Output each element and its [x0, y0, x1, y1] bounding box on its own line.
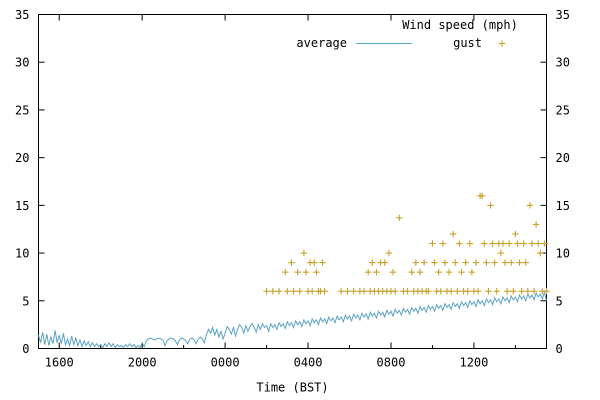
- y-tick-label-right: 10: [556, 247, 570, 261]
- y-tick-label-right: 20: [556, 151, 570, 165]
- x-tick-label: 2000: [128, 356, 157, 370]
- chart-background: [0, 0, 600, 400]
- legend-label-average: average: [296, 36, 347, 50]
- legend-label-gust: gust: [453, 36, 482, 50]
- y-tick-label-left: 25: [15, 103, 29, 117]
- plot-canvas: 05101520253035 05101520253035 1600200000…: [0, 0, 600, 400]
- x-tick-label: 0800: [377, 356, 406, 370]
- y-tick-label-right: 0: [556, 342, 563, 356]
- x-tick-label: 1200: [459, 356, 488, 370]
- wind-speed-chart: 05101520253035 05101520253035 1600200000…: [0, 0, 600, 400]
- y-tick-label-right: 35: [556, 8, 570, 22]
- y-tick-label-left: 0: [22, 342, 29, 356]
- x-tick-label: 0000: [211, 356, 240, 370]
- y-tick-label-left: 30: [15, 56, 29, 70]
- y-tick-label-left: 20: [15, 151, 29, 165]
- y-tick-label-left: 35: [15, 8, 29, 22]
- y-tick-label-right: 5: [556, 294, 563, 308]
- y-tick-label-right: 30: [556, 56, 570, 70]
- y-tick-label-left: 10: [15, 247, 29, 261]
- legend-title: Wind speed (mph): [402, 18, 518, 32]
- y-tick-label-right: 25: [556, 103, 570, 117]
- x-tick-label: 0400: [294, 356, 323, 370]
- y-tick-label-left: 5: [22, 294, 29, 308]
- y-tick-label-left: 15: [15, 199, 29, 213]
- x-axis-title: Time (BST): [256, 381, 328, 395]
- y-tick-label-right: 15: [556, 199, 570, 213]
- x-tick-label: 1600: [45, 356, 74, 370]
